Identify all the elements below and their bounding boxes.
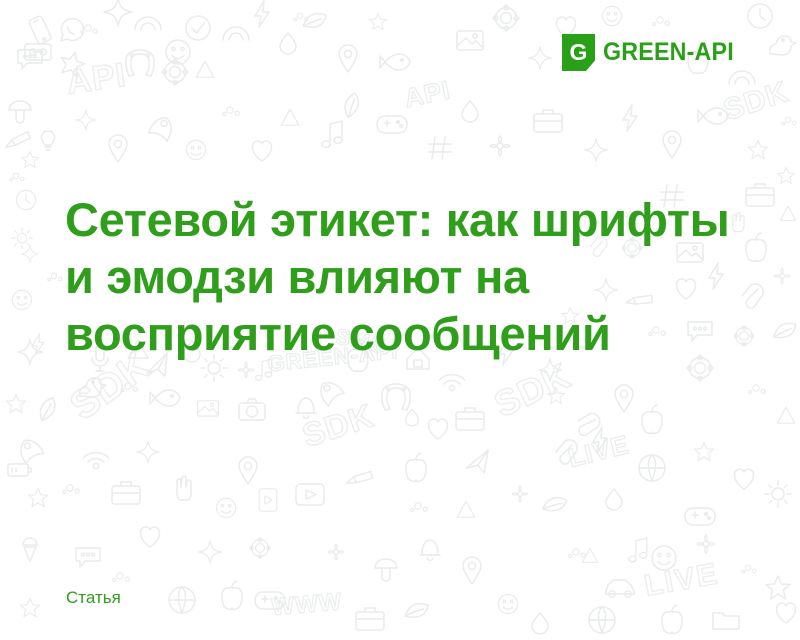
svg-text:SDK: SDK — [298, 396, 379, 454]
svg-text:LIVE: LIVE — [565, 429, 632, 473]
svg-text:WWW: WWW — [270, 588, 343, 621]
svg-text:API: API — [64, 56, 128, 102]
svg-text:G: G — [570, 39, 588, 65]
svg-text:SDK: SDK — [720, 75, 793, 127]
green-api-logo[interactable]: G GREEN-API — [562, 33, 744, 71]
green-api-logo-mark-icon: G — [562, 34, 595, 71]
article-cover-card: API SDK SDK SDK GREEN-API LIVE A — [0, 0, 800, 640]
svg-text:LIVE: LIVE — [642, 557, 721, 602]
green-api-wordmark: GREEN-API — [603, 40, 734, 65]
content-type-label: Статья — [66, 588, 121, 608]
svg-text:API: API — [402, 74, 454, 113]
page-title: Сетевой этикет: как шрифты и эмодзи влия… — [65, 191, 755, 362]
svg-text:SDK: SDK — [488, 354, 577, 425]
